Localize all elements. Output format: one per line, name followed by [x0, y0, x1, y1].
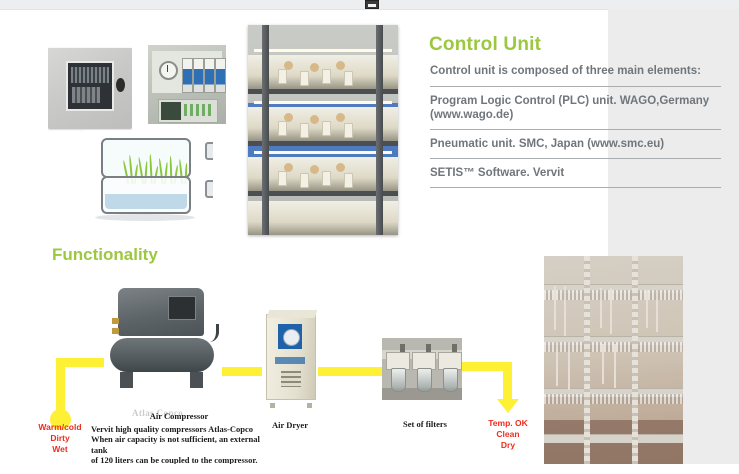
control-cabinet-photo — [48, 42, 132, 134]
rack-lamp — [254, 101, 392, 104]
dryer-brand-plate — [275, 357, 305, 364]
compressor-control-panel — [168, 296, 196, 320]
plc-module — [158, 99, 218, 123]
compressor-foot — [120, 372, 133, 388]
cabinet-terminal-strip — [71, 67, 109, 83]
pressure-gauge-icon — [159, 61, 178, 80]
culture-rack-photo — [248, 25, 398, 235]
inlet-state-line: Wet — [52, 444, 67, 454]
cabinet-body — [48, 48, 132, 128]
vessel-cap — [336, 61, 345, 70]
filter-set-photo — [382, 338, 462, 400]
control-unit-lead: Control unit is composed of three main e… — [430, 65, 730, 77]
valve-unit — [193, 58, 204, 93]
rack-lamp — [254, 49, 392, 52]
compressor-housing — [118, 288, 204, 336]
inlet-air-state-label: Warm/cold Dirty Wet — [31, 422, 89, 455]
step-title: Air Compressor — [91, 411, 267, 422]
valve-unit — [215, 58, 226, 93]
rack-post — [376, 25, 383, 235]
flow-pipe-inlet-horizontal — [56, 358, 104, 367]
flow-arrow-head-icon — [497, 399, 519, 413]
flow-pipe-dryer-to-filters — [318, 367, 384, 376]
vessel-cap — [336, 113, 345, 122]
dryer-control-panel — [278, 324, 302, 349]
pneumatic-panel-photo — [148, 45, 226, 124]
compressor-fitting — [112, 328, 119, 334]
vessel-cap — [310, 165, 319, 174]
flow-pipe-compressor-to-dryer — [218, 367, 266, 376]
plc-cpu — [161, 102, 181, 120]
culture-room-rack-photo — [544, 256, 683, 464]
inlet-state-line: Dirty — [50, 433, 69, 443]
outlet-state-line: Clean — [496, 429, 519, 439]
dryer-top-panel — [267, 310, 318, 318]
filter-bowl — [391, 368, 406, 392]
vessel-cap — [336, 163, 345, 172]
air-compressor-caption: Air Compressor Vervit high quality compr… — [91, 411, 267, 466]
culture-vessel-illustration — [85, 130, 213, 226]
list-item: Program Logic Control (PLC) unit. WAGO,G… — [430, 86, 721, 129]
valve-unit — [204, 58, 215, 93]
rack-shelf — [544, 434, 683, 443]
compressor-air-tank: Atlas Copco — [110, 338, 214, 372]
valve-unit — [182, 58, 193, 93]
pneumatic-mount-plate — [152, 51, 222, 93]
filter-bowl — [443, 368, 458, 392]
step-desc-line: When air capacity is not sufficient, an … — [91, 434, 260, 455]
control-unit-title: Control Unit — [429, 34, 541, 56]
rack-post — [632, 256, 638, 464]
plc-terminal — [184, 104, 187, 116]
filter-bowl — [417, 368, 432, 392]
rack-mesh-shelf — [544, 394, 683, 404]
rack-lamp — [254, 151, 392, 154]
control-unit-list: Program Logic Control (PLC) unit. WAGO,G… — [430, 86, 721, 188]
dryer-leg — [270, 403, 275, 408]
outlet-state-line: Dry — [501, 440, 515, 450]
air-dryer-caption: Air Dryer — [258, 420, 322, 430]
dryer-leg — [307, 403, 312, 408]
filter-set-caption: Set of filters — [386, 419, 464, 429]
vessel-cap — [310, 115, 319, 124]
vessel-lower-chamber — [101, 176, 191, 214]
vessel-medium-liquid — [105, 194, 187, 209]
outlet-state-line: Temp. OK — [488, 418, 528, 428]
outlet-air-state-label: Temp. OK Clean Dry — [480, 418, 536, 451]
vessel-lower-port — [205, 180, 213, 198]
compressor-fitting — [112, 318, 119, 324]
list-item: Pneumatic unit. SMC, Japan (www.smc.eu) — [430, 129, 721, 158]
plc-terminal — [208, 104, 211, 116]
bottom-strip — [0, 464, 739, 474]
dryer-cabinet — [266, 314, 316, 400]
inlet-state-line: Warm/cold — [38, 422, 81, 432]
functionality-title: Functionality — [52, 245, 158, 265]
rack-post — [584, 256, 590, 464]
list-item: SETIS™ Software. Vervit — [430, 158, 721, 188]
step-desc-line: Vervit high quality compressors Atlas-Co… — [91, 424, 253, 434]
vessel-cap — [310, 63, 319, 72]
vessel-shadow — [95, 214, 195, 221]
rack-post — [262, 25, 269, 235]
dryer-dial-icon — [283, 329, 300, 346]
plc-terminal — [190, 104, 193, 116]
compressor-foot — [190, 372, 203, 388]
dryer-vent-grill — [281, 371, 301, 387]
vessel-upper-port — [205, 142, 213, 160]
air-dryer-photo — [262, 308, 318, 404]
vessel-upper-chamber — [101, 138, 191, 178]
air-compressor-photo: Atlas Copco — [104, 280, 222, 398]
flow-pipe-outlet-vertical — [503, 362, 512, 403]
window-handle-icon[interactable] — [365, 0, 379, 9]
plc-terminal — [202, 104, 205, 116]
cabinet-door-window — [66, 61, 114, 111]
cabinet-wiring — [72, 87, 100, 103]
cabinet-handle-icon — [116, 78, 125, 92]
slide-canvas: Control Unit Control unit is composed of… — [0, 0, 739, 474]
plc-terminal — [196, 104, 199, 116]
